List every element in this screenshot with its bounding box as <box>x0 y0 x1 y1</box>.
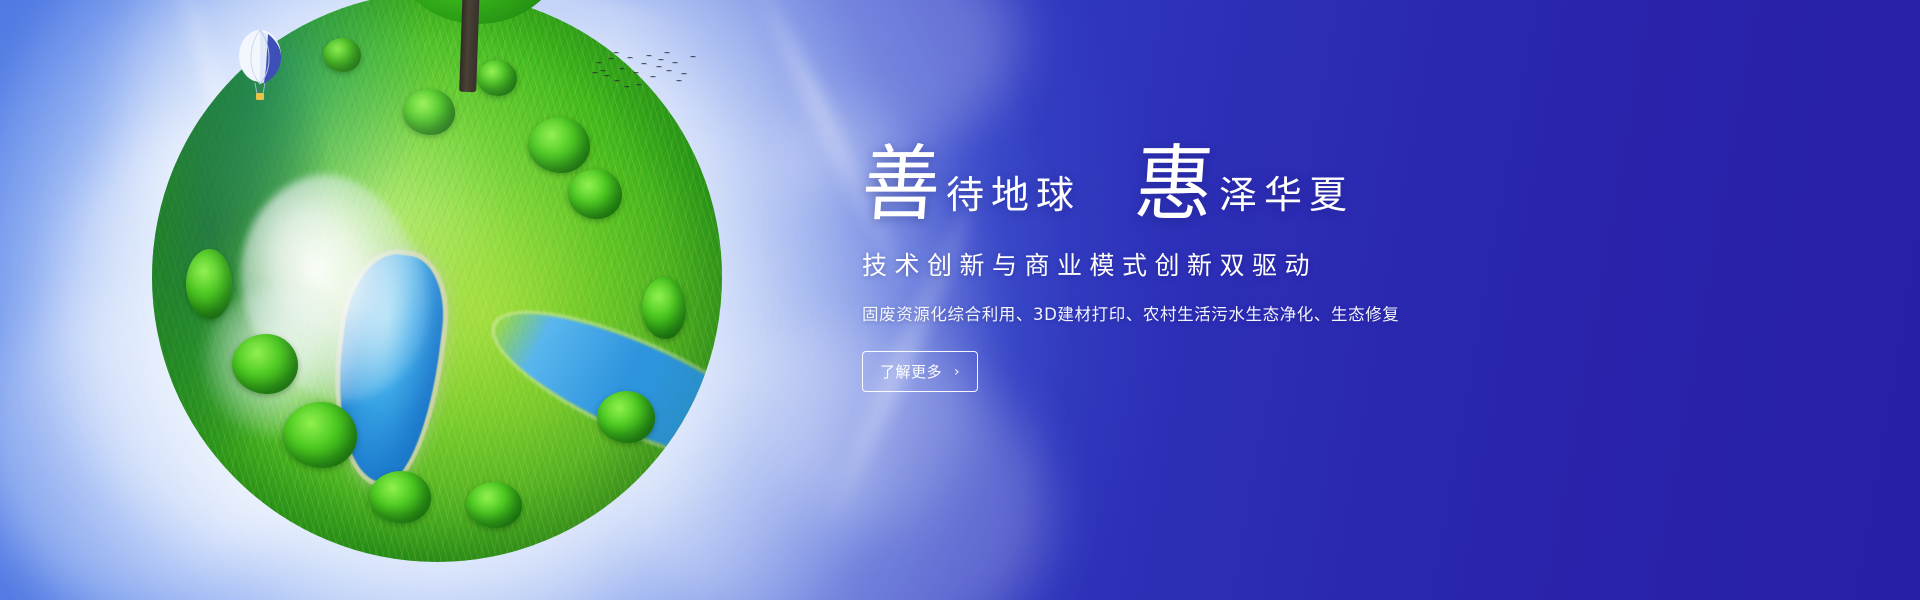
hot-air-balloon-icon <box>236 28 284 104</box>
headline-phrase-1: 善 待地球 <box>862 149 1081 224</box>
headline-lead-char-1: 善 <box>859 146 943 226</box>
headline-rest-2: 泽华夏 <box>1219 176 1354 224</box>
headline-phrase-2: 惠 泽华夏 <box>1135 149 1354 224</box>
chevron-right-icon: › <box>954 365 960 379</box>
headline-rest-1: 待地球 <box>946 176 1081 224</box>
learn-more-label: 了解更多 <box>880 361 942 382</box>
hero-copy: 善 待地球 惠 泽华夏 技术创新与商业模式创新双驱动 固废资源化综合利用、3D建… <box>862 132 1622 392</box>
headline-lead-char-2: 惠 <box>1132 146 1216 226</box>
headline: 善 待地球 惠 泽华夏 <box>862 132 1622 224</box>
subtitle: 技术创新与商业模式创新双驱动 <box>862 246 1622 282</box>
learn-more-button[interactable]: 了解更多 › <box>862 351 978 392</box>
description: 固废资源化综合利用、3D建材打印、农村生活污水生态净化、生态修复 <box>862 301 1622 325</box>
hero-banner: 善 待地球 惠 泽华夏 技术创新与商业模式创新双驱动 固废资源化综合利用、3D建… <box>0 0 1920 600</box>
